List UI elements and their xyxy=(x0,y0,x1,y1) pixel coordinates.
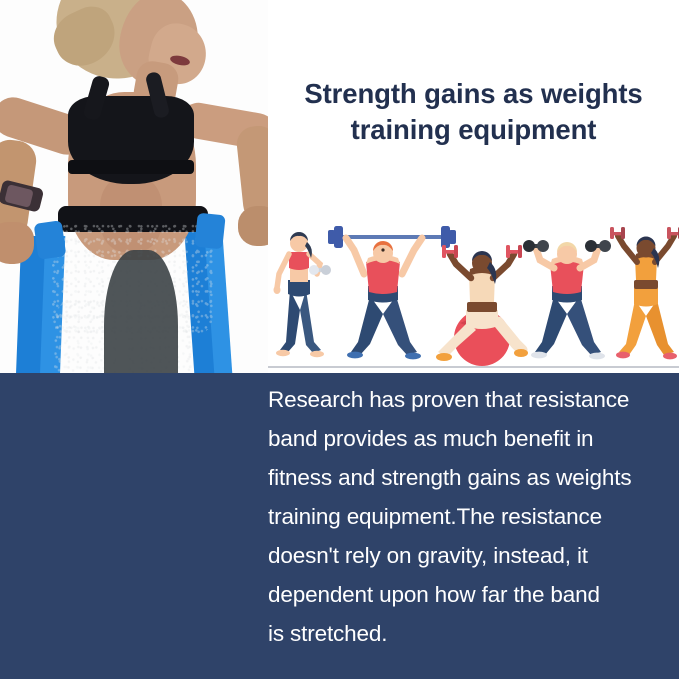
figure-3-woman-exercise-ball xyxy=(436,245,528,366)
description-line: is stretched. xyxy=(268,615,668,654)
page-title-line-1: Strength gains as weights xyxy=(268,76,679,112)
exercise-figures-illustration xyxy=(268,218,679,370)
page-title-line-2: training equipment xyxy=(268,112,679,148)
description-line: training equipment.The resistance xyxy=(268,498,668,537)
resistance-band-right-grip xyxy=(194,213,225,250)
model-left-hand xyxy=(0,222,34,264)
product-infographic: Strength gains as weights training equip… xyxy=(0,0,679,679)
figure-1-woman-with-dumbbell xyxy=(274,232,332,357)
figure-4-man-shoulder-press xyxy=(523,240,611,359)
page-title: Strength gains as weights training equip… xyxy=(268,76,679,149)
description-line: doesn't rely on gravity, instead, it xyxy=(268,537,668,576)
illustration-baseline-divider xyxy=(268,366,679,368)
exercise-figures-svg xyxy=(268,218,679,370)
model-right-hand xyxy=(238,206,268,246)
description-line: Research has proven that resistance xyxy=(268,381,668,420)
description-line: dependent upon how far the band xyxy=(268,576,668,615)
figure-2-man-barbell-press xyxy=(328,226,456,359)
sports-bra-band xyxy=(68,160,194,174)
description-text: Research has proven that resistance band… xyxy=(268,381,668,653)
description-line: fitness and strength gains as weights xyxy=(268,459,668,498)
figure-5-woman-overhead-raise xyxy=(610,227,679,359)
resistance-band-left-grip xyxy=(34,220,67,260)
description-panel: Research has proven that resistance band… xyxy=(0,373,679,679)
description-line: band provides as much benefit in xyxy=(268,420,668,459)
